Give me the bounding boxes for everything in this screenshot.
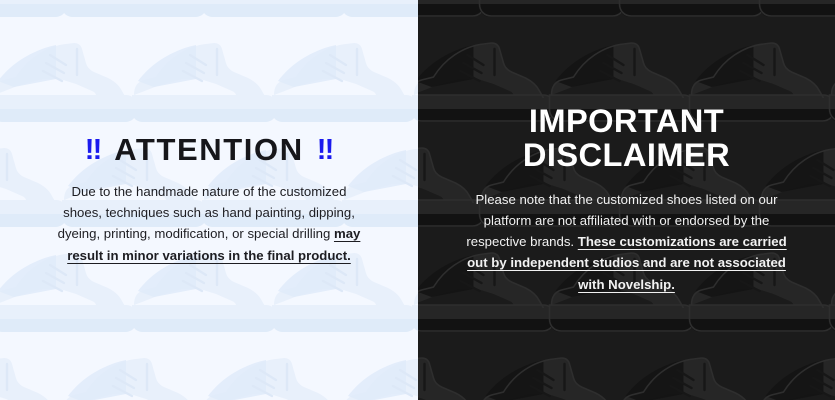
double-exclamation-icon-left: ‼ <box>85 135 102 165</box>
disclaimer-body: Please note that the customized shoes li… <box>462 189 792 295</box>
disclaimer-content: IMPORTANT DISCLAIMER Please note that th… <box>418 105 835 294</box>
attention-content: ‼ATTENTION‼ Due to the handmade nature o… <box>0 134 418 266</box>
attention-heading: ‼ATTENTION‼ <box>30 134 388 167</box>
disclaimer-panel: IMPORTANT DISCLAIMER Please note that th… <box>418 0 835 400</box>
attention-body-normal: Due to the handmade nature of the custom… <box>58 184 355 242</box>
disclaimer-heading-line1: IMPORTANT <box>444 105 808 139</box>
attention-body: Due to the handmade nature of the custom… <box>54 181 364 267</box>
disclaimer-banner: ‼ATTENTION‼ Due to the handmade nature o… <box>0 0 835 400</box>
attention-panel: ‼ATTENTION‼ Due to the handmade nature o… <box>0 0 418 400</box>
disclaimer-heading: IMPORTANT DISCLAIMER <box>444 105 808 173</box>
attention-heading-text: ATTENTION <box>114 132 303 167</box>
disclaimer-heading-line2: DISCLAIMER <box>444 139 808 173</box>
double-exclamation-icon-right: ‼ <box>317 135 334 165</box>
